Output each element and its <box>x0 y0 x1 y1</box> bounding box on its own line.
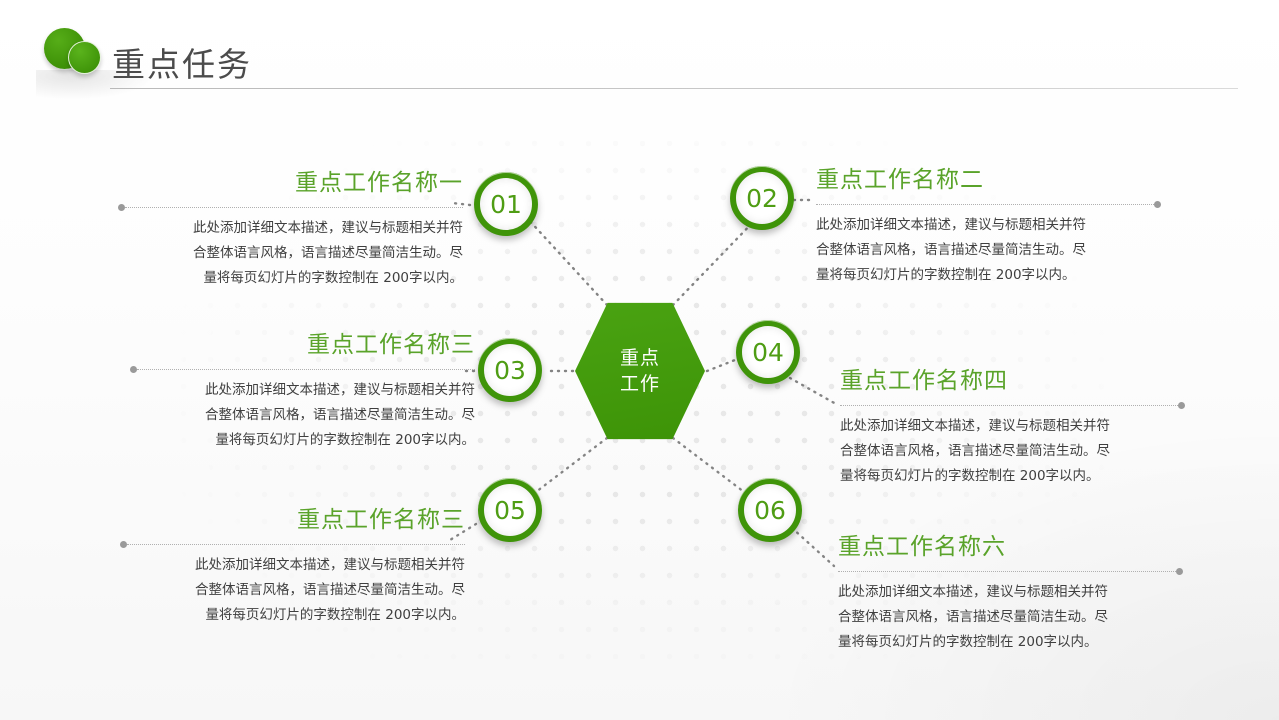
content-item-05: 重点工作名称三 此处添加详细文本描述，建议与标题相关并符 合整体语言风格，语言描… <box>120 505 465 628</box>
rule-dotted-line <box>127 544 465 545</box>
content-item-04: 重点工作名称四 此处添加详细文本描述，建议与标题相关并符 合整体语言风格，语言描… <box>840 366 1185 489</box>
connector-hex-to-05 <box>528 438 607 498</box>
number-badge-04[interactable]: 04 <box>736 320 800 384</box>
item-body: 此处添加详细文本描述，建议与标题相关并符 合整体语言风格，语言描述尽量简洁生动。… <box>120 553 465 628</box>
slide-header: 重点任务 <box>0 0 1279 104</box>
center-hexagon-label: 重点 工作 <box>620 345 660 397</box>
rule-end-dot <box>120 541 127 548</box>
page-title: 重点任务 <box>112 38 252 86</box>
slide-canvas: 重点任务 <box>0 0 1279 720</box>
badge-number-text: 05 <box>494 496 526 525</box>
badge-number-text: 01 <box>490 190 522 219</box>
badge-number-text: 04 <box>752 338 784 367</box>
item-title: 重点工作名称二 <box>816 165 1161 195</box>
connector-hex-to-04 <box>707 360 735 371</box>
connector-hex-to-06 <box>673 438 752 498</box>
rule-dotted-line <box>125 207 463 208</box>
item-rule <box>120 539 465 549</box>
badge-number-text: 02 <box>746 184 778 213</box>
item-title: 重点工作名称三 <box>130 330 475 360</box>
content-item-02: 重点工作名称二 此处添加详细文本描述，建议与标题相关并符 合整体语言风格，语言描… <box>816 165 1161 288</box>
item-rule <box>130 364 475 374</box>
rule-dotted-line <box>838 571 1176 572</box>
badge-number-text: 06 <box>754 496 786 525</box>
item-body: 此处添加详细文本描述，建议与标题相关并符 合整体语言风格，语言描述尽量简洁生动。… <box>838 580 1183 655</box>
item-title: 重点工作名称三 <box>120 505 465 535</box>
item-rule <box>840 400 1185 410</box>
two-green-circles-logo-icon <box>44 28 112 76</box>
rule-end-dot <box>130 366 137 373</box>
rule-dotted-line <box>137 369 475 370</box>
number-badge-05[interactable]: 05 <box>478 478 542 542</box>
logo-circle-small <box>68 41 101 74</box>
item-title: 重点工作名称四 <box>840 366 1185 396</box>
rule-dotted-line <box>816 204 1154 205</box>
connector-06-to-text <box>792 528 834 566</box>
item-title: 重点工作名称六 <box>838 532 1183 562</box>
number-badge-01[interactable]: 01 <box>474 172 538 236</box>
item-title: 重点工作名称一 <box>118 168 463 198</box>
item-rule <box>118 202 463 212</box>
content-item-06: 重点工作名称六 此处添加详细文本描述，建议与标题相关并符 合整体语言风格，语言描… <box>838 532 1183 655</box>
rule-end-dot <box>1176 568 1183 575</box>
number-badge-06[interactable]: 06 <box>738 478 802 542</box>
item-body: 此处添加详细文本描述，建议与标题相关并符 合整体语言风格，语言描述尽量简洁生动。… <box>840 414 1185 489</box>
connector-hex-to-02 <box>673 218 757 305</box>
number-badge-02[interactable]: 02 <box>730 166 794 230</box>
item-rule <box>838 566 1183 576</box>
rule-end-dot <box>1154 201 1161 208</box>
rule-end-dot <box>118 204 125 211</box>
rule-dotted-line <box>840 405 1178 406</box>
connector-hex-to-01 <box>527 218 607 305</box>
badge-number-text: 03 <box>494 356 526 385</box>
item-rule <box>816 199 1161 209</box>
header-divider <box>110 88 1238 89</box>
rule-end-dot <box>1178 402 1185 409</box>
item-body: 此处添加详细文本描述，建议与标题相关并符 合整体语言风格，语言描述尽量简洁生动。… <box>816 213 1161 288</box>
item-body: 此处添加详细文本描述，建议与标题相关并符 合整体语言风格，语言描述尽量简洁生动。… <box>118 216 463 291</box>
content-item-01: 重点工作名称一 此处添加详细文本描述，建议与标题相关并符 合整体语言风格，语言描… <box>118 168 463 291</box>
number-badge-03[interactable]: 03 <box>478 338 542 402</box>
content-item-03: 重点工作名称三 此处添加详细文本描述，建议与标题相关并符 合整体语言风格，语言描… <box>130 330 475 453</box>
center-hexagon[interactable]: 重点 工作 <box>575 300 705 442</box>
connector-04-to-text <box>790 378 836 404</box>
item-body: 此处添加详细文本描述，建议与标题相关并符 合整体语言风格，语言描述尽量简洁生动。… <box>130 378 475 453</box>
